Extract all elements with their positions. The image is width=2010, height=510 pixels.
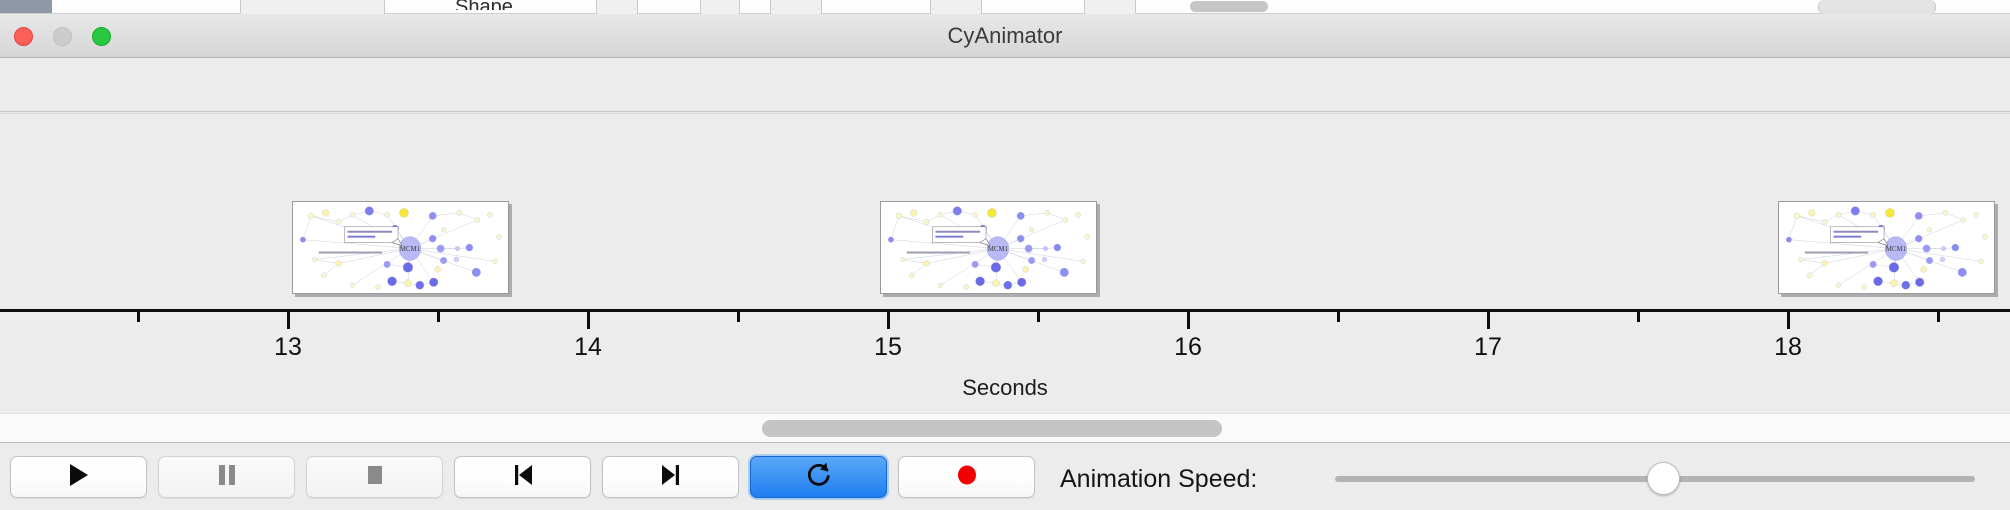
title-bar: CyAnimator xyxy=(0,14,2010,58)
keyframe-thumbnail[interactable]: MCM1 xyxy=(292,201,509,294)
network-graph-thumbnail: MCM1 xyxy=(881,202,1096,294)
window-title: CyAnimator xyxy=(0,14,2010,58)
timeline-scrollbar-thumb[interactable] xyxy=(762,420,1222,437)
cyanimator-window: Shape CyAnimator + Clear All Frames xyxy=(0,0,2010,510)
background-scroll-pill xyxy=(1190,1,1268,12)
animation-speed-slider[interactable] xyxy=(1335,476,1975,482)
keyframe-thumbnail[interactable]: MCM1 xyxy=(880,201,1097,294)
ruler-tick-major xyxy=(587,312,590,329)
ruler-tick-major xyxy=(887,312,890,329)
svg-text:MCM1: MCM1 xyxy=(400,246,421,253)
ruler-tick-label: 17 xyxy=(1474,333,1502,362)
background-shape-label: Shape xyxy=(455,0,513,10)
background-dark-block xyxy=(0,0,52,13)
background-tab xyxy=(596,0,638,14)
timeline-ruler-line xyxy=(0,309,2010,312)
ruler-tick-major xyxy=(287,312,290,329)
timeline-panel[interactable]: MCM1MCM1MCM1 2131415161718 Seconds xyxy=(0,113,2010,413)
ruler-tick-major xyxy=(1787,312,1790,329)
keyframe-thumbnail[interactable]: MCM1 xyxy=(1778,201,1995,294)
ruler-tick-label: 18 xyxy=(1774,333,1802,362)
background-tab xyxy=(1084,0,1136,14)
loop-button[interactable] xyxy=(750,456,887,498)
animation-speed-label: Animation Speed: xyxy=(1060,465,1257,494)
ruler-tick-label: 14 xyxy=(574,333,602,362)
record-icon xyxy=(953,461,981,494)
ruler-tick-major xyxy=(1487,312,1490,329)
ruler-tick-minor xyxy=(137,312,140,322)
play-icon xyxy=(66,461,92,494)
ruler-tick-minor xyxy=(1337,312,1340,322)
background-tab xyxy=(700,0,740,14)
svg-text:MCM1: MCM1 xyxy=(1886,246,1907,253)
network-graph-thumbnail: MCM1 xyxy=(1779,202,1994,294)
pause-button[interactable] xyxy=(158,456,295,498)
ruler-tick-label: 15 xyxy=(874,333,902,362)
pause-icon xyxy=(214,461,240,494)
ruler-tick-label: 16 xyxy=(1174,333,1202,362)
timeline-top-divider xyxy=(0,113,2010,114)
timeline-axis-title: Seconds xyxy=(0,375,2010,401)
ruler-tick-minor xyxy=(1937,312,1940,322)
animation-speed-thumb[interactable] xyxy=(1647,462,1680,495)
next-frame-button[interactable] xyxy=(602,456,739,498)
background-app-strip: Shape xyxy=(0,0,2010,14)
record-button[interactable] xyxy=(898,456,1035,498)
stop-icon xyxy=(362,461,388,494)
ruler-tick-major xyxy=(1187,312,1190,329)
stop-button[interactable] xyxy=(306,456,443,498)
skip-forward-icon xyxy=(658,461,684,494)
background-tab xyxy=(240,0,385,14)
background-tab xyxy=(770,0,822,14)
network-graph-thumbnail: MCM1 xyxy=(293,202,508,294)
toolbar: + Clear All Frames xyxy=(0,58,2010,112)
loop-icon xyxy=(805,460,833,495)
ruler-tick-minor xyxy=(737,312,740,322)
svg-text:MCM1: MCM1 xyxy=(988,246,1009,253)
timeline-scrollbar[interactable] xyxy=(0,413,2010,443)
ruler-tick-minor xyxy=(437,312,440,322)
ruler-tick-label: 13 xyxy=(274,333,302,362)
skip-back-icon xyxy=(510,461,536,494)
background-tab xyxy=(1818,0,1936,14)
ruler-tick-minor xyxy=(1637,312,1640,322)
play-button[interactable] xyxy=(10,456,147,498)
background-tab xyxy=(930,0,982,14)
ruler-tick-minor xyxy=(1037,312,1040,322)
transport-bar: Animation Speed: xyxy=(0,444,2010,510)
previous-frame-button[interactable] xyxy=(454,456,591,498)
